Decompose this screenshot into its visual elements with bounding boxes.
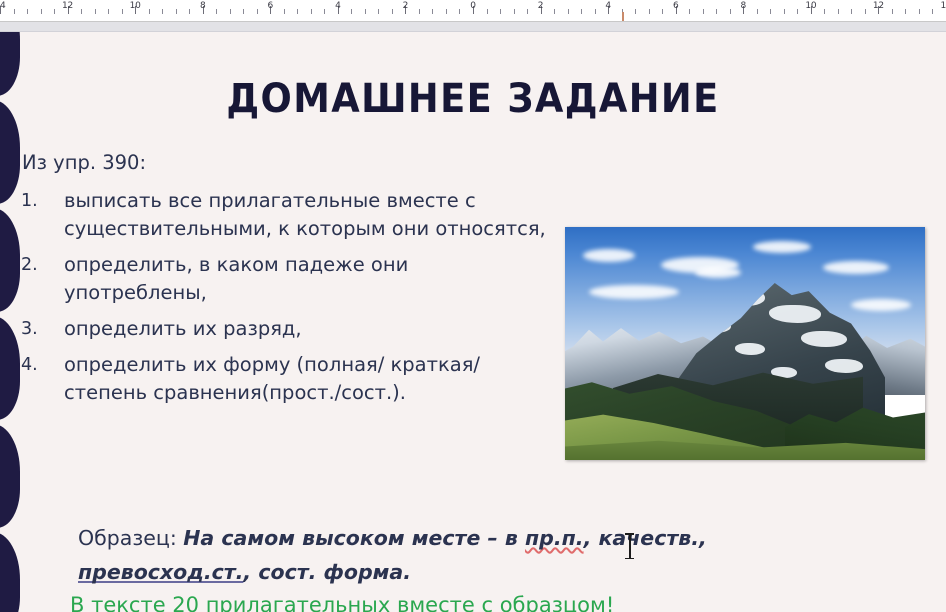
task-list: 1.выписать все прилагательные вместе с с…	[18, 187, 548, 415]
example-text-a: На самом высоком месте – в	[183, 526, 525, 550]
ruler-minor-tick	[392, 9, 393, 14]
ruler-minor-tick	[81, 9, 82, 14]
ruler-minor-tick	[487, 9, 488, 14]
list-item-number: 1.	[18, 187, 64, 215]
decorative-lobe	[0, 208, 20, 312]
example-line-1: Образец: На самом высоком месте – в пр.п…	[78, 521, 868, 555]
ruler-number: 8	[200, 1, 206, 11]
example-misspelling-1: пр.п.	[525, 526, 584, 550]
ruler-minor-tick	[865, 9, 866, 14]
list-item-label: выписать все прилагательные вместе с сущ…	[64, 187, 548, 243]
list-item: 3.определить их разряд,	[18, 315, 548, 343]
decorative-lobe	[0, 100, 20, 204]
ruler-number: 14	[940, 1, 946, 11]
ruler-minor-tick	[257, 9, 258, 14]
ruler-number: 4	[335, 1, 341, 11]
photo-cloud	[823, 261, 889, 274]
list-item-number: 2.	[18, 251, 64, 279]
decorative-lobe	[0, 532, 20, 612]
photo-snow	[769, 305, 821, 323]
ruler-minor-tick	[54, 9, 55, 14]
ruler-minor-tick	[514, 9, 515, 14]
ruler-minor-tick	[149, 9, 150, 14]
ruler-minor-tick	[95, 9, 96, 14]
ruler-number: 6	[268, 1, 274, 11]
ruler-number: 2	[538, 1, 544, 11]
list-item-number: 4.	[18, 351, 64, 379]
ruler-number: 6	[673, 1, 679, 11]
mountain-photo[interactable]	[565, 227, 925, 460]
ruler-minor-tick	[527, 9, 528, 14]
ruler-minor-tick	[838, 9, 839, 14]
ruler-minor-tick	[662, 9, 663, 14]
ruler-minor-tick	[932, 9, 933, 14]
example-text-c: , сост. форма.	[243, 560, 411, 584]
mountain-photo-image	[565, 227, 925, 460]
ruler-minor-tick	[703, 9, 704, 14]
ruler-minor-tick	[459, 9, 460, 14]
ruler-minor-tick	[919, 9, 920, 14]
photo-snow	[825, 359, 863, 373]
ruler-number: 4	[605, 1, 611, 11]
list-item: 2.определить, в каком падеже они употреб…	[18, 251, 548, 307]
ruler-number: 10	[805, 1, 816, 11]
ruler-minor-tick	[324, 9, 325, 14]
decorative-lobe	[0, 32, 20, 96]
page-title: ДОМАШНЕЕ ЗАДАНИЕ	[38, 76, 908, 122]
photo-cloud	[583, 249, 635, 262]
ruler-minor-tick	[176, 9, 177, 14]
list-item-number: 3.	[18, 315, 64, 343]
ruler-minor-tick	[730, 9, 731, 14]
ruler-minor-tick	[595, 9, 596, 14]
list-item-label: определить их разряд,	[64, 315, 548, 343]
ruler-minor-tick	[568, 9, 569, 14]
slide-editor-window: 141210864202468101214 ДОМАШНЕЕ ЗАДАНИЕ И…	[0, 0, 946, 612]
note-text: В тексте 20 прилагательных вместе с обра…	[70, 590, 614, 612]
ruler-minor-tick	[716, 9, 717, 14]
ruler-minor-tick	[162, 9, 163, 14]
ruler-minor-tick	[419, 9, 420, 14]
ruler-minor-tick	[757, 9, 758, 14]
ruler-minor-tick	[14, 9, 15, 14]
ruler-minor-tick	[892, 9, 893, 14]
ruler-minor-tick	[689, 9, 690, 14]
ruler-minor-tick	[41, 9, 42, 14]
ruler-minor-tick	[446, 9, 447, 14]
ruler-minor-tick	[108, 9, 109, 14]
ruler-minor-tick	[243, 9, 244, 14]
editor-gray-band	[0, 22, 946, 32]
example-text-b: , качеств.,	[584, 526, 707, 550]
ruler-minor-tick	[770, 9, 771, 14]
ruler-indent-marker[interactable]	[622, 12, 624, 22]
ruler-minor-tick	[824, 9, 825, 14]
ruler-minor-tick	[351, 9, 352, 14]
list-item-label: определить их форму (полная/ краткая/ ст…	[64, 351, 548, 407]
ruler-tick-marks: 141210864202468101214	[0, 0, 946, 22]
ruler-minor-tick	[230, 9, 231, 14]
ruler-minor-tick	[581, 9, 582, 14]
example-label: Образец:	[78, 526, 177, 550]
ruler-minor-tick	[432, 9, 433, 14]
intro-text: Из упр. 390:	[22, 150, 146, 176]
list-item: 1.выписать все прилагательные вместе с с…	[18, 187, 548, 243]
ruler-minor-tick	[27, 9, 28, 14]
ruler-minor-tick	[284, 9, 285, 14]
photo-cloud	[851, 299, 911, 311]
ruler-number: 12	[62, 1, 73, 11]
ruler-minor-tick	[554, 9, 555, 14]
ruler-minor-tick	[216, 9, 217, 14]
ruler-minor-tick	[365, 9, 366, 14]
ruler-number: 12	[873, 1, 884, 11]
example-line-2: превосход.ст., сост. форма.	[78, 555, 868, 589]
ruler-minor-tick	[378, 9, 379, 14]
slide-canvas[interactable]: ДОМАШНЕЕ ЗАДАНИЕ Из упр. 390: 1.выписать…	[0, 32, 946, 612]
example-misspelling-2: превосход.ст.	[78, 560, 243, 584]
ruler-minor-tick	[311, 9, 312, 14]
ruler-minor-tick	[905, 9, 906, 14]
horizontal-ruler[interactable]: 141210864202468101214	[0, 0, 946, 22]
ruler-minor-tick	[297, 9, 298, 14]
ruler-number: 10	[130, 1, 141, 11]
ruler-number: 2	[403, 1, 409, 11]
photo-snow	[735, 343, 765, 355]
ruler-minor-tick	[635, 9, 636, 14]
ruler-minor-tick	[784, 9, 785, 14]
photo-snow	[801, 331, 847, 347]
photo-cloud	[753, 241, 811, 253]
ruler-minor-tick	[500, 9, 501, 14]
ruler-number: 14	[0, 1, 6, 11]
ruler-minor-tick	[851, 9, 852, 14]
ruler-minor-tick	[797, 9, 798, 14]
decorative-lobe	[0, 424, 20, 528]
list-item-label: определить, в каком падеже они употребле…	[64, 251, 548, 307]
ruler-minor-tick	[649, 9, 650, 14]
example-block[interactable]: Образец: На самом высоком месте – в пр.п…	[78, 521, 868, 589]
ruler-number: 0	[470, 1, 476, 11]
photo-cloud	[695, 267, 741, 278]
ruler-number: 8	[741, 1, 747, 11]
decorative-lobe	[0, 316, 20, 420]
ruler-minor-tick	[122, 9, 123, 14]
list-item: 4.определить их форму (полная/ краткая/ …	[18, 351, 548, 407]
ruler-minor-tick	[189, 9, 190, 14]
photo-cloud	[589, 285, 679, 299]
